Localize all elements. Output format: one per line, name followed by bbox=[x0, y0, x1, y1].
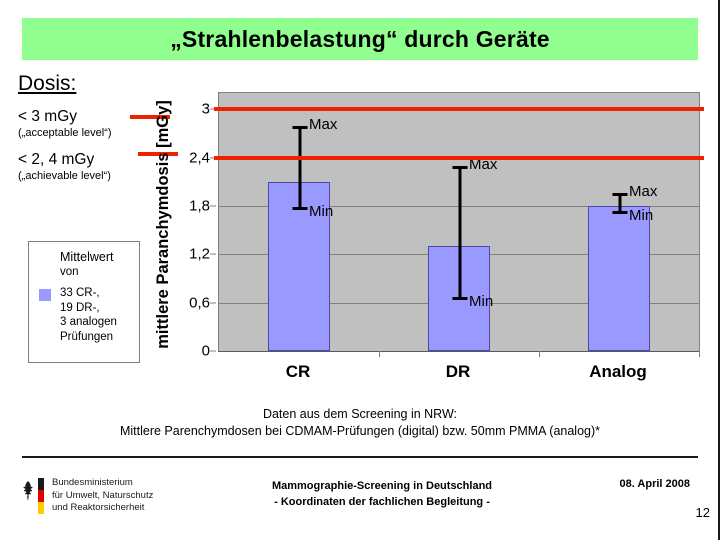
error-bar-cap-max bbox=[612, 193, 627, 196]
y-tick-label: 0,6 bbox=[189, 294, 210, 311]
error-label-max: Max bbox=[309, 116, 337, 133]
dose-panel: Dosis: < 3 mGy („acceptable level“) < 2,… bbox=[14, 72, 164, 193]
dose-heading: Dosis: bbox=[14, 72, 164, 96]
slide-title-banner: „Strahlenbelastung“ durch Geräte bbox=[22, 18, 698, 60]
legend-lines: 33 CR-, 19 DR-, 3 analogen Prüfungen bbox=[60, 286, 133, 344]
y-tick-label: 1,8 bbox=[189, 197, 210, 214]
legend-body: 33 CR-, 19 DR-, 3 analogen Prüfungen bbox=[37, 286, 133, 344]
error-bar-line bbox=[298, 126, 301, 210]
error-label-min: Min bbox=[309, 203, 333, 220]
x-axis-label-analog: Analog bbox=[538, 362, 698, 382]
dose-entry-acceptable: < 3 mGy („acceptable level“) bbox=[14, 107, 164, 141]
error-bar-cr: MaxMin bbox=[299, 126, 300, 210]
footer-date: 08. April 2008 bbox=[619, 478, 690, 490]
dose-entry-achievable: < 2, 4 mGy („achievable level“) bbox=[14, 150, 164, 184]
bar-analog bbox=[588, 206, 650, 351]
error-bar-cap-max bbox=[452, 166, 467, 169]
y-tick-label: 2,4 bbox=[189, 149, 210, 166]
y-tick-label: 1,2 bbox=[189, 246, 210, 263]
plot-region: MaxMinMaxMinMaxMin bbox=[218, 92, 700, 352]
error-label-min: Min bbox=[629, 207, 653, 224]
caption-line-2: Mittlere Parenchymdosen bei CDMAM-Prüfun… bbox=[22, 423, 698, 440]
slide-footer: Bundesministerium für Umwelt, Naturschut… bbox=[0, 470, 720, 540]
y-tick-mark bbox=[210, 351, 216, 352]
y-tick-label: 0 bbox=[202, 343, 210, 360]
caption-line-1: Daten aus dem Screening in NRW: bbox=[22, 406, 698, 423]
logo-line: für Umwelt, Naturschutz bbox=[52, 490, 153, 503]
legend-line: Prüfungen bbox=[60, 330, 133, 345]
legend-line: 19 DR-, bbox=[60, 301, 133, 316]
error-bar-cap-min bbox=[612, 211, 627, 214]
legend-line: 33 CR-, bbox=[60, 286, 133, 301]
y-tick-label: 3 bbox=[202, 101, 210, 118]
error-bar-line bbox=[458, 166, 461, 301]
reference-line-acceptable bbox=[214, 107, 704, 111]
legend-line: 3 analogen bbox=[60, 315, 133, 330]
error-bar-dr: MaxMin bbox=[459, 166, 460, 301]
y-axis-title-text: mittlere Paranchymdosis [mGy] bbox=[154, 100, 173, 349]
error-bar-analog: MaxMin bbox=[619, 193, 620, 214]
chart-caption: Daten aus dem Screening in NRW: Mittlere… bbox=[22, 406, 698, 440]
y-axis-title: mittlere Paranchymdosis [mGy] bbox=[150, 74, 176, 374]
reference-line-achievable bbox=[214, 156, 704, 160]
slide-canvas: „Strahlenbelastung“ durch Geräte Dosis: … bbox=[0, 0, 720, 540]
bmu-logo-text: Bundesministerium für Umwelt, Naturschut… bbox=[52, 477, 153, 515]
page-title: „Strahlenbelastung“ durch Geräte bbox=[170, 26, 550, 53]
dose-note-achievable: („achievable level“) bbox=[18, 169, 164, 184]
x-axis-label-cr: CR bbox=[218, 362, 378, 382]
legend-subtitle: von bbox=[60, 265, 133, 280]
bmu-logo: Bundesministerium für Umwelt, Naturschut… bbox=[22, 476, 222, 516]
x-axis-labels: CRDRAnalog bbox=[218, 362, 700, 388]
x-axis-label-dr: DR bbox=[378, 362, 538, 382]
page-number: 12 bbox=[696, 505, 710, 520]
federal-eagle-icon bbox=[22, 480, 34, 502]
german-flag-icon bbox=[38, 478, 44, 514]
legend-swatch-mittelwert-icon bbox=[39, 289, 51, 301]
legend-title: Mittelwert bbox=[60, 249, 133, 265]
error-label-min: Min bbox=[469, 293, 493, 310]
chart-area: 00,61,21,82,43 MaxMinMaxMinMaxMin bbox=[178, 92, 700, 354]
y-tick-mark bbox=[210, 254, 216, 255]
y-axis-ticks: 00,61,21,82,43 bbox=[178, 92, 216, 354]
footer-line-2: - Koordinaten der fachlichen Begleitung … bbox=[222, 494, 542, 510]
error-label-max: Max bbox=[629, 183, 657, 200]
footer-line-1: Mammographie-Screening in Deutschland bbox=[222, 478, 542, 494]
y-tick-mark bbox=[210, 205, 216, 206]
y-tick-mark bbox=[210, 302, 216, 303]
error-bar-cap-max bbox=[292, 126, 307, 129]
footer-divider bbox=[22, 456, 698, 458]
x-tick-mark bbox=[539, 351, 540, 357]
error-bar-cap-min bbox=[452, 297, 467, 300]
dose-note-acceptable: („acceptable level“) bbox=[18, 126, 164, 141]
x-tick-mark bbox=[379, 351, 380, 357]
logo-line: und Reaktorsicherheit bbox=[52, 502, 153, 515]
footer-center-text: Mammographie-Screening in Deutschland - … bbox=[222, 478, 542, 510]
x-tick-mark bbox=[699, 351, 700, 357]
logo-line: Bundesministerium bbox=[52, 477, 153, 490]
chart-legend: Mittelwert von 33 CR-, 19 DR-, 3 analoge… bbox=[28, 241, 140, 363]
error-bar-cap-min bbox=[292, 207, 307, 210]
